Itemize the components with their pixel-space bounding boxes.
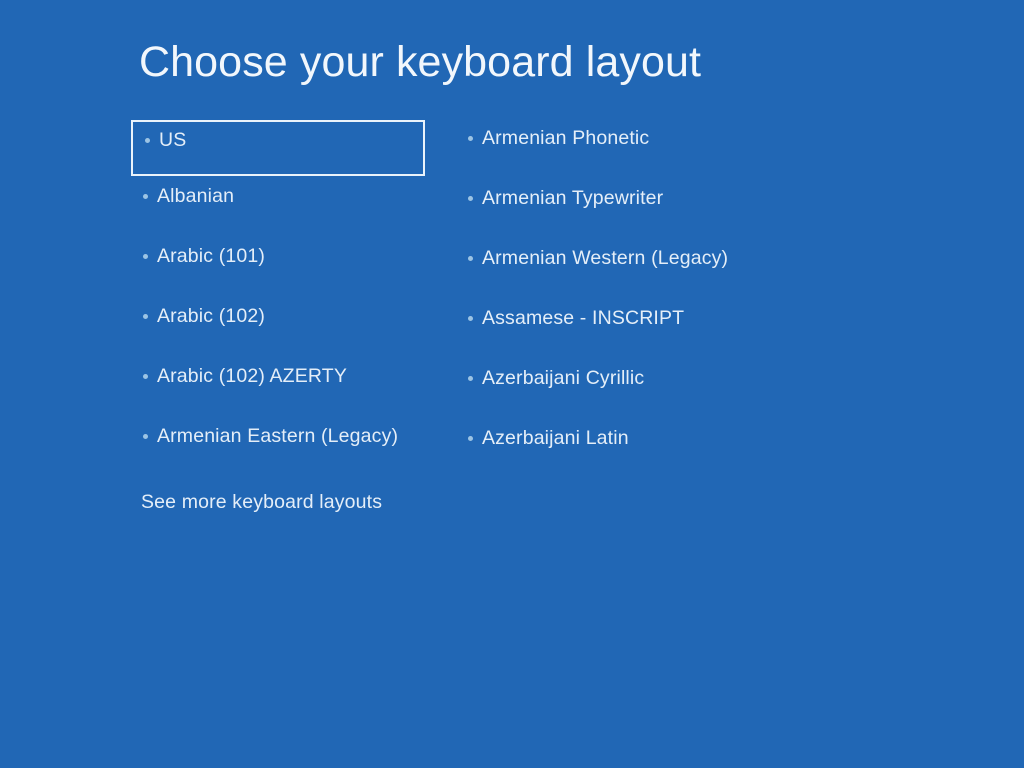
bullet-icon [468, 136, 473, 141]
keyboard-layout-item-label: Azerbaijani Latin [482, 426, 629, 450]
keyboard-layout-column-left: USAlbanianArabic (101)Arabic (102)Arabic… [141, 118, 441, 476]
keyboard-layout-item-label: US [159, 128, 186, 152]
keyboard-layout-item[interactable]: Arabic (101) [141, 236, 441, 296]
bullet-icon [468, 316, 473, 321]
keyboard-layout-item[interactable]: Armenian Typewriter [466, 178, 796, 238]
bullet-icon [145, 138, 150, 143]
bullet-icon [143, 314, 148, 319]
page-title: Choose your keyboard layout [139, 36, 701, 88]
bullet-icon [468, 376, 473, 381]
keyboard-layout-item-label: Arabic (102) [157, 304, 265, 328]
keyboard-layout-item[interactable]: Armenian Phonetic [466, 118, 796, 178]
keyboard-layout-item[interactable]: Armenian Western (Legacy) [466, 238, 796, 298]
see-more-keyboard-layouts-link[interactable]: See more keyboard layouts [141, 489, 382, 515]
keyboard-layout-column-right: Armenian PhoneticArmenian TypewriterArme… [466, 118, 796, 478]
bullet-icon [143, 434, 148, 439]
keyboard-layout-item-label: Albanian [157, 184, 234, 208]
keyboard-layout-item[interactable]: US [131, 120, 425, 176]
keyboard-layout-item-label: Arabic (101) [157, 244, 265, 268]
bullet-icon [468, 196, 473, 201]
keyboard-layout-item-label: Armenian Western (Legacy) [482, 246, 728, 270]
keyboard-layout-item[interactable]: Arabic (102) [141, 296, 441, 356]
bullet-icon [468, 436, 473, 441]
bullet-icon [143, 374, 148, 379]
keyboard-layout-item-label: Armenian Eastern (Legacy) [157, 424, 398, 448]
keyboard-layout-item[interactable]: Albanian [141, 176, 441, 236]
keyboard-layout-item[interactable]: Arabic (102) AZERTY [141, 356, 441, 416]
bullet-icon [468, 256, 473, 261]
keyboard-layout-item[interactable]: Assamese - INSCRIPT [466, 298, 796, 358]
bullet-icon [143, 254, 148, 259]
bullet-icon [143, 194, 148, 199]
keyboard-layout-item[interactable]: Azerbaijani Cyrillic [466, 358, 796, 418]
keyboard-layout-item-label: Azerbaijani Cyrillic [482, 366, 644, 390]
keyboard-layout-item-label: Arabic (102) AZERTY [157, 364, 347, 388]
keyboard-layout-item[interactable]: Armenian Eastern (Legacy) [141, 416, 441, 476]
keyboard-layout-item[interactable]: Azerbaijani Latin [466, 418, 796, 478]
keyboard-layout-item-label: Assamese - INSCRIPT [482, 306, 684, 330]
keyboard-layout-item-label: Armenian Phonetic [482, 126, 649, 150]
keyboard-layout-item-label: Armenian Typewriter [482, 186, 663, 210]
recovery-keyboard-layout-screen: Choose your keyboard layout USAlbanianAr… [0, 0, 1024, 768]
